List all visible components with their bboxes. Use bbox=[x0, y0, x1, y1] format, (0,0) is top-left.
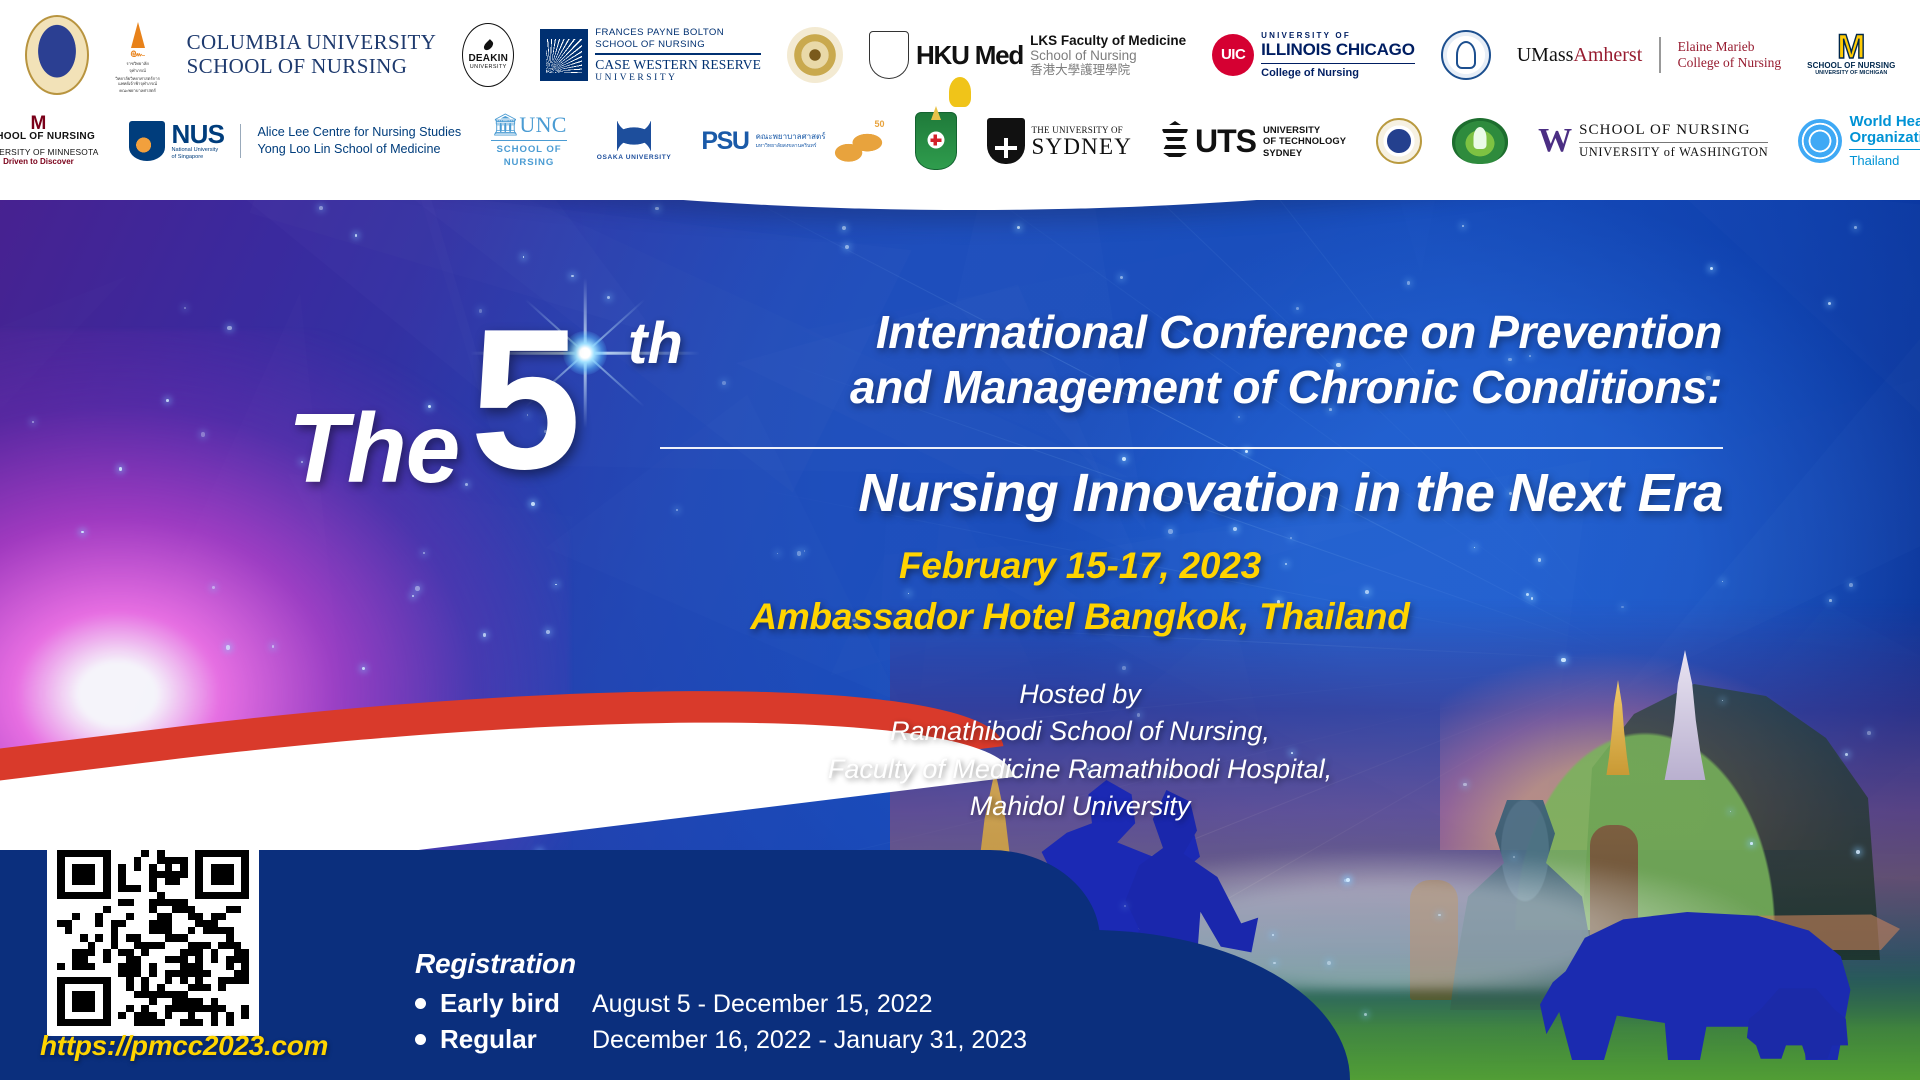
unc-letters: UNC bbox=[519, 112, 566, 137]
qr-code-block[interactable] bbox=[47, 840, 259, 1036]
partner-logos-band: ๛ ราชวิทยาลัย จุฬาภรณ์ วิทยาลัยวิทยาศาสต… bbox=[0, 0, 1920, 200]
logo-who-thailand: World Health Organization Thailand bbox=[1798, 114, 1920, 169]
washington-w-icon: W bbox=[1538, 127, 1572, 156]
logo-university-of-washington-nursing: W SCHOOL OF NURSING UNIVERSITY of WASHIN… bbox=[1538, 122, 1768, 160]
logo-unc-school-of-nursing: 🏛UNC SCHOOL OF NURSING bbox=[491, 112, 567, 170]
cwru-line-3: CASE WESTERN RESERVE bbox=[595, 57, 761, 73]
conference-website-url[interactable]: https://pmcc2023.com bbox=[40, 1030, 328, 1062]
uts-line-2: OF TECHNOLOGY bbox=[1263, 135, 1346, 146]
michigan-m-icon: M bbox=[1837, 34, 1865, 61]
logo-hku-med-school-of-nursing: HKU Med LKS Faculty of Medicine School o… bbox=[869, 31, 1186, 79]
hku-line-3: 香港大學護理學院 bbox=[1030, 63, 1186, 78]
nus-sub-2: of Singapore bbox=[172, 154, 225, 161]
minnesota-m-icon: M bbox=[31, 116, 47, 131]
umass-left-2: Amherst bbox=[1573, 44, 1642, 66]
chulabhorn-emblem-icon: ๛ ราชวิทยาลัย จุฬาภรณ์ วิทยาลัยวิทยาศาสต… bbox=[115, 22, 161, 88]
deakin-line-2: UNIVERSITY bbox=[470, 64, 507, 70]
psu-naga-icon bbox=[833, 129, 885, 163]
thai-royal-star-icon bbox=[787, 27, 843, 83]
logo-michigan-school-of-nursing: M SCHOOL OF NURSING UNIVERSITY OF MICHIG… bbox=[1807, 34, 1895, 76]
hosted-by-label: Hosted by bbox=[560, 676, 1600, 713]
uic-line-2: ILLINOIS CHICAGO bbox=[1261, 40, 1415, 60]
washington-divider bbox=[1579, 142, 1768, 143]
host-line-2: Faculty of Medicine Ramathibodi Hospital… bbox=[560, 751, 1600, 788]
who-line-1: World Health bbox=[1849, 114, 1920, 130]
logo-chulabhorn-royal-academy: ๛ ราชวิทยาลัย จุฬาภรณ์ วิทยาลัยวิทยาศาสต… bbox=[115, 22, 161, 88]
mahidol-seal-icon bbox=[25, 15, 89, 95]
logo-case-western-reserve-nursing: FRANCES PAYNE BOLTON SCHOOL OF NURSING C… bbox=[540, 27, 761, 83]
uic-line-3: College of Nursing bbox=[1261, 67, 1415, 79]
osaka-label: OSAKA UNIVERSITY bbox=[597, 154, 672, 161]
logo-nus-alice-lee-centre-nursing: NUS National University of Singapore Ali… bbox=[129, 121, 462, 161]
nus-divider bbox=[240, 124, 241, 158]
uts-line-1: UNIVERSITY bbox=[1263, 124, 1346, 135]
qr-code-image[interactable] bbox=[57, 850, 249, 1026]
minnesota-line-3: Driven to Discover bbox=[3, 157, 74, 166]
unc-mark: 🏛UNC bbox=[491, 112, 567, 138]
logo-uic-college-of-nursing: UIC UNIVERSITY OF ILLINOIS CHICAGO Colle… bbox=[1212, 31, 1415, 79]
qr-code-frame[interactable] bbox=[47, 840, 259, 1036]
umass-wordmark: UMassAmherst bbox=[1517, 44, 1643, 67]
deakin-line-1: DEAKIN bbox=[468, 53, 508, 64]
bullet-icon bbox=[415, 998, 426, 1009]
thai-red-cross-seal-icon bbox=[915, 112, 957, 170]
logo-green-leaf-university bbox=[1452, 118, 1508, 164]
uts-line-3: SYDNEY bbox=[1263, 147, 1346, 158]
green-leaf-seal-icon bbox=[1452, 118, 1508, 164]
uts-emblem-icon bbox=[1162, 121, 1188, 161]
umass-right-2: College of Nursing bbox=[1678, 55, 1782, 71]
logo-osaka-university: OSAKA UNIVERSITY bbox=[597, 121, 672, 161]
cwru-divider bbox=[595, 53, 761, 54]
bullet-icon bbox=[415, 1034, 426, 1045]
osaka-mark-icon bbox=[617, 121, 651, 151]
logo-umass-amherst-elaine-marieb-nursing: UMassAmherst Elaine Marieb College of Nu… bbox=[1517, 37, 1781, 73]
minnesota-line-2: UNIVERSITY OF MINNESOTA bbox=[0, 147, 99, 157]
thai-monogram-icon: ๛ bbox=[130, 46, 145, 59]
logo-columbia-university-school-of-nursing: COLUMBIA UNIVERSITY SCHOOL OF NURSING bbox=[187, 31, 437, 78]
host-line-1: Ramathibodi School of Nursing, bbox=[560, 713, 1600, 750]
minnesota-line-1: SCHOOL OF NURSING bbox=[0, 131, 95, 142]
chulabhorn-line-2: จุฬาภรณ์ bbox=[129, 68, 146, 73]
who-emblem-icon bbox=[1798, 119, 1842, 163]
washington-line-1: SCHOOL OF NURSING bbox=[1579, 122, 1768, 139]
cwru-line-1: FRANCES PAYNE BOLTON bbox=[595, 27, 761, 39]
red-cross-icon bbox=[930, 134, 941, 145]
nus-mark: NUS bbox=[172, 121, 225, 147]
host-line-3: Mahidol University bbox=[560, 788, 1600, 825]
michigan-line-2: UNIVERSITY OF MICHIGAN bbox=[1815, 70, 1887, 76]
columbia-line-1: COLUMBIA UNIVERSITY bbox=[187, 31, 437, 55]
logo-university-of-sydney: THE UNIVERSITY OF SYDNEY bbox=[987, 118, 1132, 164]
logo-deakin-university: DEAKIN UNIVERSITY bbox=[462, 23, 514, 87]
columbia-line-2: SCHOOL OF NURSING bbox=[187, 55, 437, 79]
registration-value-early-bird: August 5 - December 15, 2022 bbox=[592, 990, 932, 1019]
logo-row-2: M SCHOOL OF NURSING UNIVERSITY OF MINNES… bbox=[0, 100, 1920, 182]
logo-thai-royal-seal bbox=[787, 27, 843, 83]
logo-kunming-medical-university bbox=[1441, 30, 1491, 80]
unc-line-1: SCHOOL OF bbox=[497, 144, 562, 157]
sydney-line-2: SYDNEY bbox=[1032, 135, 1132, 158]
hku-line-1: LKS Faculty of Medicine bbox=[1030, 33, 1186, 48]
logo-psu-faculty-of-nursing: PSU คณะพยาบาลศาสตร์ มหาวิทยาลัยสงขลานคริ… bbox=[701, 119, 884, 163]
title-divider-rule bbox=[660, 447, 1723, 449]
uts-mark-text: UTS bbox=[1195, 125, 1256, 157]
hku-crest-icon bbox=[869, 31, 909, 79]
nus-right-2: Yong Loo Lin School of Medicine bbox=[257, 141, 461, 158]
conference-subtitle: Nursing Innovation in the Next Era bbox=[600, 462, 1723, 524]
who-divider bbox=[1849, 149, 1920, 150]
cwru-block-icon bbox=[540, 29, 588, 81]
logo-thai-red-cross-college-of-nursing bbox=[915, 112, 957, 170]
conference-poster: ๛ ราชวิทยาลัย จุฬาภรณ์ วิทยาลัยวิทยาศาสต… bbox=[0, 0, 1920, 1080]
registration-row-regular: Regular December 16, 2022 - January 31, … bbox=[415, 1024, 1027, 1055]
chulabhorn-line-4: คณะพยาบาลศาสตร์ bbox=[119, 88, 156, 93]
logo-mahidol-university bbox=[25, 15, 89, 95]
deakin-oval-icon: DEAKIN UNIVERSITY bbox=[462, 23, 514, 87]
chulabhorn-line-1: ราชวิทยาลัย bbox=[126, 61, 148, 66]
registration-block: Registration Early bird August 5 - Decem… bbox=[415, 948, 1027, 1055]
psu-thai-2: มหาวิทยาลัยสงขลานครินทร์ bbox=[756, 142, 826, 150]
cwru-line-2: SCHOOL OF NURSING bbox=[595, 39, 761, 51]
unc-line-2: NURSING bbox=[504, 157, 555, 170]
registration-title: Registration bbox=[415, 948, 1027, 980]
china-university-seal-icon bbox=[1376, 118, 1422, 164]
logo-university-of-technology-sydney: UTS UNIVERSITY OF TECHNOLOGY SYDNEY bbox=[1162, 121, 1346, 161]
cwru-line-4: UNIVERSITY bbox=[595, 73, 761, 83]
unc-divider bbox=[491, 140, 567, 141]
psu-thai-1: คณะพยาบาลศาสตร์ bbox=[756, 132, 826, 142]
uic-divider bbox=[1261, 63, 1415, 64]
uic-line-1: UNIVERSITY OF bbox=[1261, 31, 1415, 40]
hku-mark: HKU Med bbox=[916, 44, 1023, 66]
psu-mark: PSU bbox=[701, 129, 748, 154]
hku-line-2: School of Nursing bbox=[1030, 48, 1186, 63]
registration-value-regular: December 16, 2022 - January 31, 2023 bbox=[592, 1026, 1027, 1055]
psu-anniversary-badge: 50 bbox=[875, 119, 885, 129]
logo-minnesota-school-of-nursing: M SCHOOL OF NURSING UNIVERSITY OF MINNES… bbox=[0, 116, 99, 166]
hosted-by-block: Hosted by Ramathibodi School of Nursing,… bbox=[560, 676, 1600, 825]
logo-row-1: ๛ ราชวิทยาลัย จุฬาภรณ์ วิทยาลัยวิทยาศาสต… bbox=[0, 0, 1920, 100]
nus-right-1: Alice Lee Centre for Nursing Studies bbox=[257, 124, 461, 141]
conference-date: February 15-17, 2023 bbox=[560, 545, 1600, 587]
registration-row-early-bird: Early bird August 5 - December 15, 2022 bbox=[415, 988, 1027, 1019]
nus-sub-1: National University bbox=[172, 147, 225, 154]
who-line-2: Organization bbox=[1849, 130, 1920, 146]
umass-divider bbox=[1659, 37, 1660, 73]
registration-label-regular: Regular bbox=[440, 1024, 592, 1055]
logo-china-partner-university bbox=[1376, 118, 1422, 164]
washington-line-2: UNIVERSITY of WASHINGTON bbox=[1579, 145, 1768, 160]
uic-badge-icon: UIC bbox=[1212, 34, 1254, 76]
sydney-shield-icon bbox=[987, 118, 1025, 164]
michigan-line-1: SCHOOL OF NURSING bbox=[1807, 61, 1895, 70]
umass-left-1: UMass bbox=[1517, 44, 1574, 66]
umass-right-1: Elaine Marieb bbox=[1678, 39, 1782, 55]
sydney-line-1: THE UNIVERSITY OF bbox=[1032, 125, 1132, 135]
chulabhorn-line-3: วิทยาลัยวิทยาศาสตร์การแพทย์เจ้าฟ้าจุฬาภร… bbox=[115, 76, 161, 87]
conference-venue: Ambassador Hotel Bangkok, Thailand bbox=[560, 596, 1600, 638]
nus-shield-icon bbox=[129, 121, 165, 161]
registration-label-early-bird: Early bird bbox=[440, 988, 592, 1019]
who-line-3: Thailand bbox=[1849, 153, 1920, 168]
kunming-seal-icon bbox=[1441, 30, 1491, 80]
deakin-drop-icon bbox=[482, 39, 495, 52]
